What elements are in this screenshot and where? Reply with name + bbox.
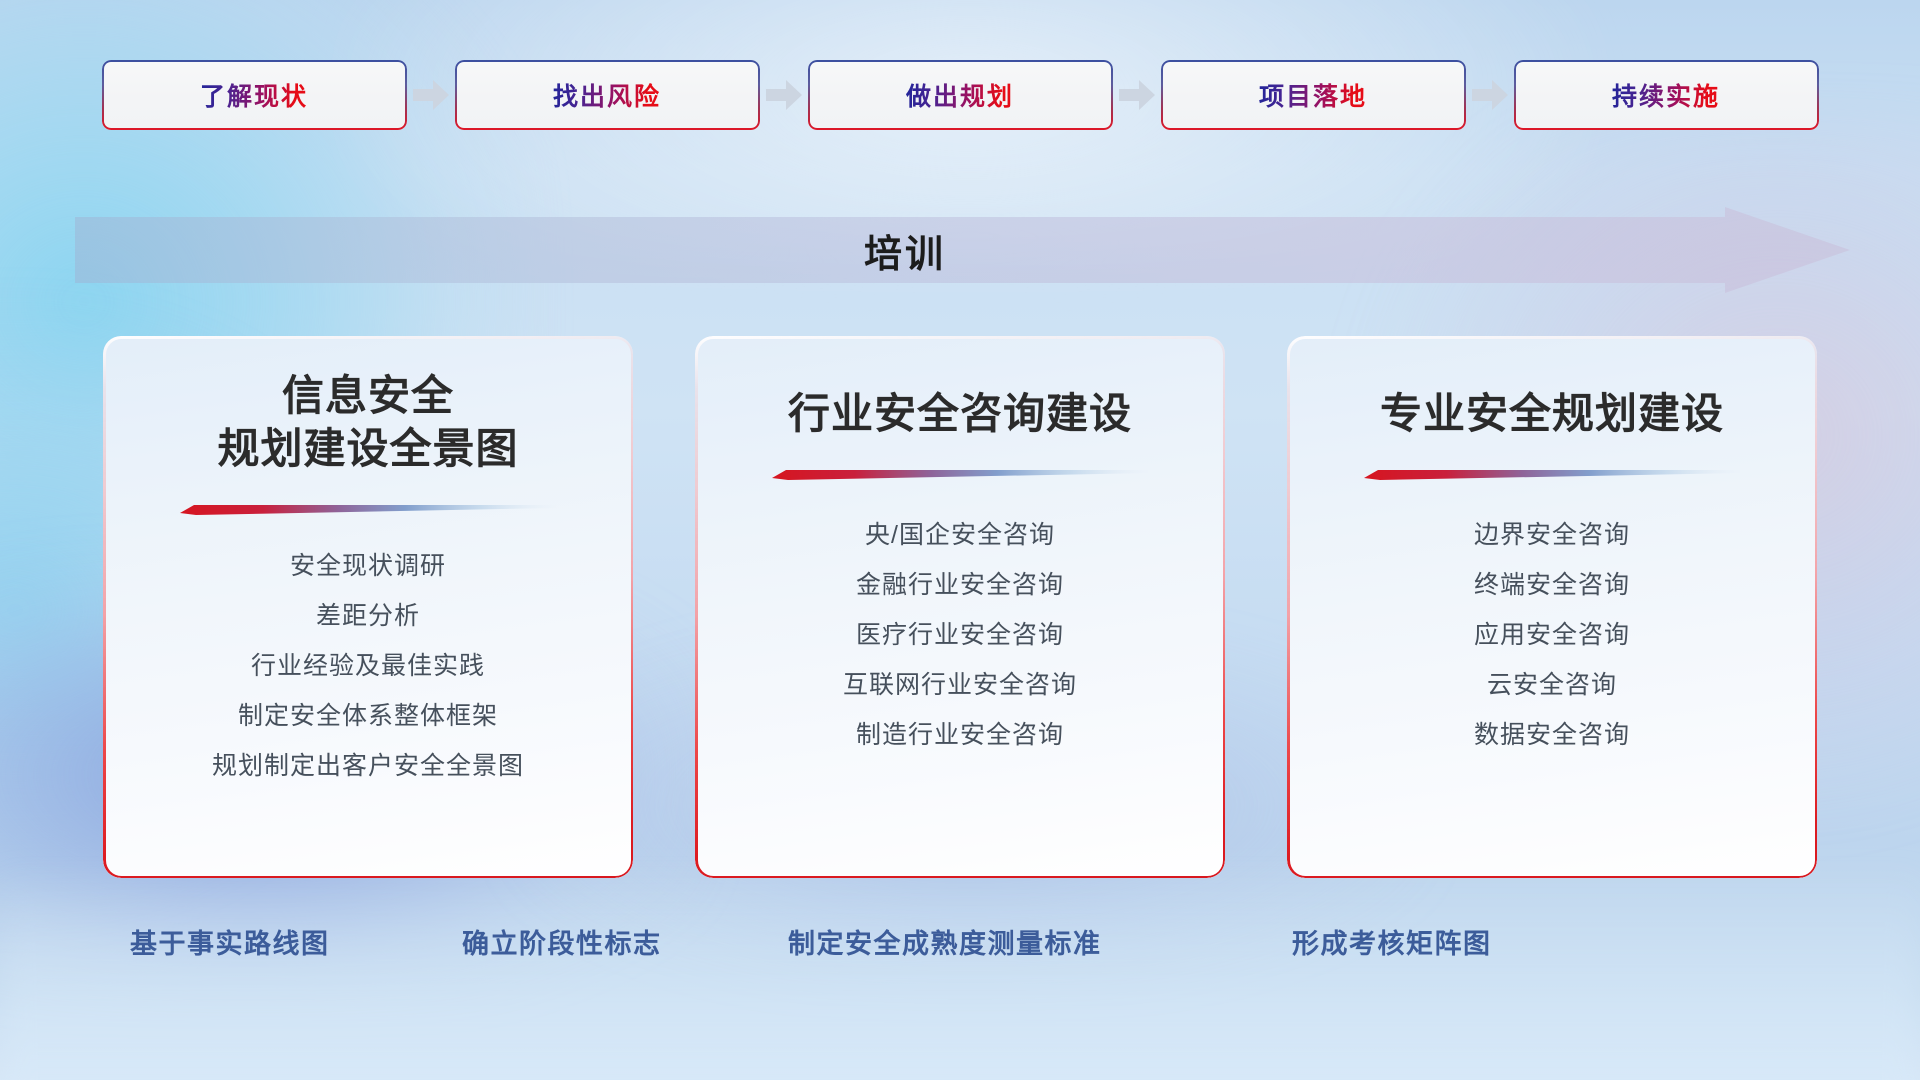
card-3-list-item: 边界安全咨询 xyxy=(1474,514,1630,556)
process-step-row: 了解现状 找出风险 做出规划 项目落地 持续实施 xyxy=(0,60,1920,130)
process-step-2-label: 找出风险 xyxy=(553,77,661,113)
card-2-list-item: 制造行业安全咨询 xyxy=(856,714,1064,756)
process-step-5-label: 持续实施 xyxy=(1612,77,1720,113)
card-2-item-list: 央/国企安全咨询 金融行业安全咨询 医疗行业安全咨询 互联网行业安全咨询 制造行… xyxy=(843,514,1077,756)
footnote-2: 确立阶段性标志 xyxy=(462,922,662,961)
footnote-3: 制定安全成熟度测量标准 xyxy=(788,922,1102,961)
card-3-list-item: 终端安全咨询 xyxy=(1474,564,1630,606)
card-2-title: 行业安全咨询建设 xyxy=(788,388,1132,441)
card-2-list-item: 央/国企安全咨询 xyxy=(865,514,1055,556)
card-1-title: 信息安全 规划建设全景图 xyxy=(217,370,518,476)
process-step-1[interactable]: 了解现状 xyxy=(102,60,407,130)
training-banner: 培训 xyxy=(75,207,1850,293)
card-1-title-line-2: 规划建设全景图 xyxy=(217,423,518,476)
card-1-list-item: 制定安全体系整体框架 xyxy=(238,695,498,737)
footnote-4: 形成考核矩阵图 xyxy=(1292,922,1492,961)
footnote-1: 基于事实路线图 xyxy=(130,922,330,961)
process-step-3-label: 做出规划 xyxy=(906,77,1014,113)
card-3-divider xyxy=(1364,467,1740,480)
card-2-list-item: 医疗行业安全咨询 xyxy=(856,614,1064,656)
process-step-2[interactable]: 找出风险 xyxy=(455,60,760,130)
card-1-divider xyxy=(180,502,556,515)
card-information-security-blueprint[interactable]: 信息安全 规划建设全景图 xyxy=(103,336,633,878)
card-3-title: 专业安全规划建设 xyxy=(1380,388,1724,441)
process-step-5[interactable]: 持续实施 xyxy=(1514,60,1819,130)
card-3-item-list: 边界安全咨询 终端安全咨询 应用安全咨询 云安全咨询 数据安全咨询 xyxy=(1474,514,1630,756)
training-banner-label: 培训 xyxy=(75,207,1735,293)
card-1-list-item: 安全现状调研 xyxy=(290,545,446,587)
process-step-4-label: 项目落地 xyxy=(1259,77,1367,113)
card-1-list-item: 差距分析 xyxy=(316,595,420,637)
card-2-title-line-1: 行业安全咨询建设 xyxy=(788,388,1132,441)
card-3-list-item: 云安全咨询 xyxy=(1487,664,1617,706)
process-step-1-label: 了解现状 xyxy=(200,77,308,113)
card-professional-security-planning[interactable]: 专业安全规划建设 xyxy=(1287,336,1817,878)
step-arrow-icon-1 xyxy=(407,60,455,130)
step-arrow-icon-2 xyxy=(760,60,808,130)
card-row: 信息安全 规划建设全景图 xyxy=(0,336,1920,878)
process-step-4[interactable]: 项目落地 xyxy=(1161,60,1466,130)
process-step-3[interactable]: 做出规划 xyxy=(808,60,1113,130)
slide-stage: 了解现状 找出风险 做出规划 项目落地 持续实施 xyxy=(0,0,1920,1080)
card-3-list-item: 应用安全咨询 xyxy=(1474,614,1630,656)
card-2-divider xyxy=(772,467,1148,480)
card-1-list-item: 规划制定出客户安全全景图 xyxy=(212,745,524,787)
step-arrow-icon-4 xyxy=(1466,60,1514,130)
card-3-title-line-1: 专业安全规划建设 xyxy=(1380,388,1724,441)
card-3-list-item: 数据安全咨询 xyxy=(1474,714,1630,756)
step-arrow-icon-3 xyxy=(1113,60,1161,130)
footnote-row: 基于事实路线图 确立阶段性标志 制定安全成熟度测量标准 形成考核矩阵图 xyxy=(0,922,1920,978)
card-1-title-line-1: 信息安全 xyxy=(217,370,518,423)
card-1-item-list: 安全现状调研 差距分析 行业经验及最佳实践 制定安全体系整体框架 规划制定出客户… xyxy=(212,545,524,787)
card-industry-security-consulting[interactable]: 行业安全咨询建设 xyxy=(695,336,1225,878)
card-2-list-item: 互联网行业安全咨询 xyxy=(843,664,1077,706)
card-1-list-item: 行业经验及最佳实践 xyxy=(251,645,485,687)
card-2-list-item: 金融行业安全咨询 xyxy=(856,564,1064,606)
